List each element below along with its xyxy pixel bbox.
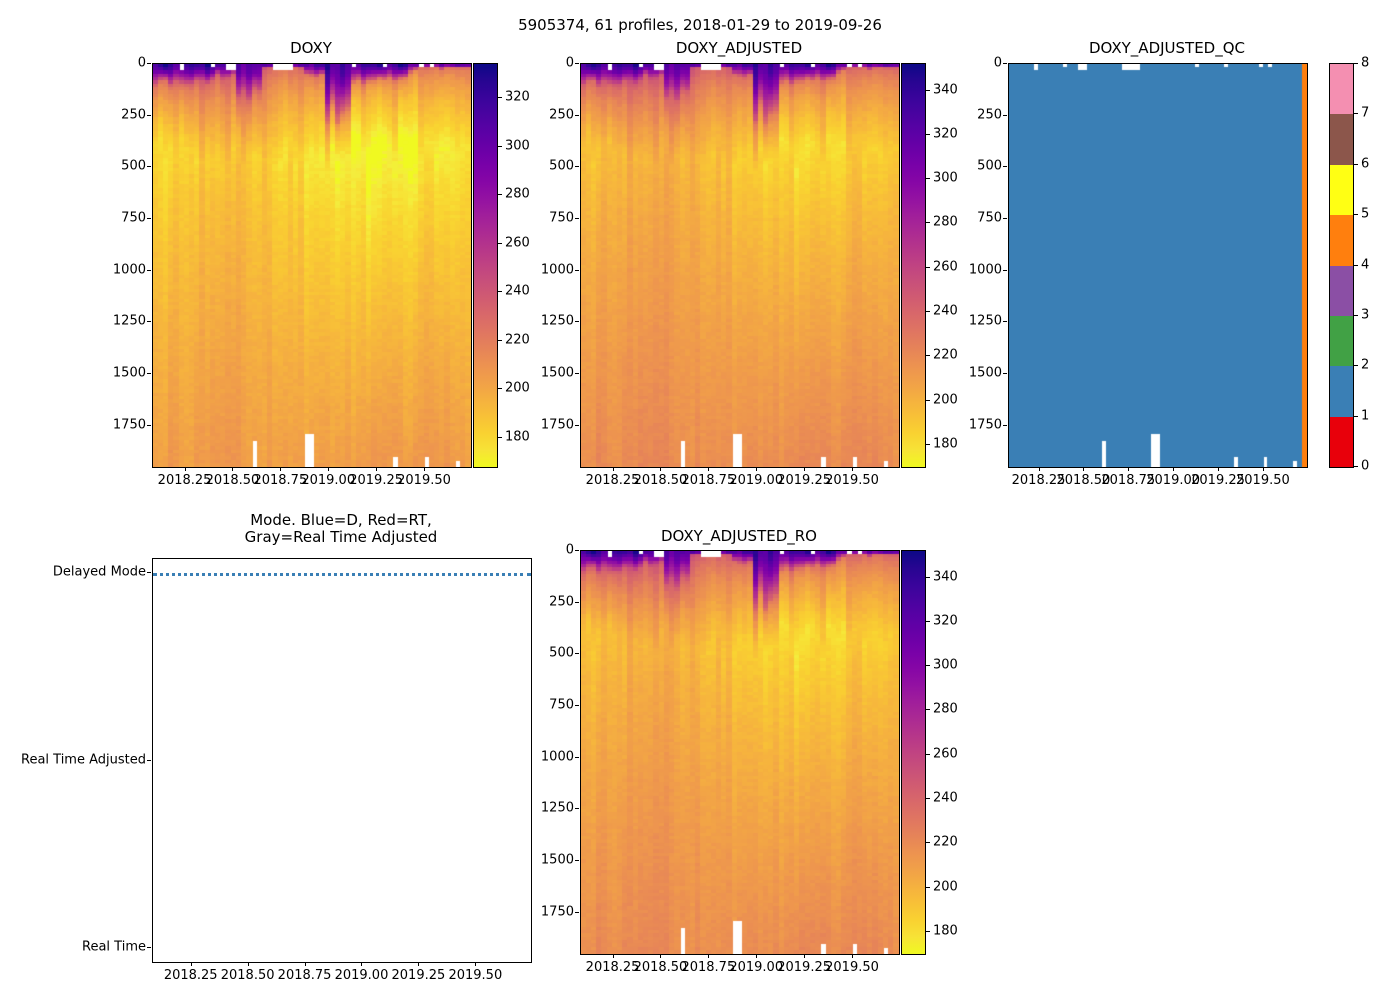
ytick-mark-doxy-5 <box>147 321 151 322</box>
cbar-tick-label-doxy-4: 260 <box>505 235 530 250</box>
colorbar-qc-categories <box>1330 64 1353 467</box>
ytick-mark-adj-5 <box>575 321 579 322</box>
ytick-label-adj-6: 1500 <box>522 366 574 381</box>
ytick-mark-qc-2 <box>1003 166 1007 167</box>
cbar-tick-mark-doxy-2 <box>498 340 502 341</box>
ytick-label-qc-0: 0 <box>950 56 1002 71</box>
qc-colorbar-band-1 <box>1330 366 1353 416</box>
cbar-tick-mark-adj-5 <box>926 222 930 223</box>
cbar-tick-mark-ro-6 <box>926 665 930 666</box>
cbar-tick-label-doxy-6: 300 <box>505 138 530 153</box>
ytick-label-mode-0: Delayed Mode <box>2 565 146 580</box>
ytick-mark-doxy-6 <box>147 373 151 374</box>
ytick-mark-doxy-1 <box>147 115 151 116</box>
ytick-mark-ro-1 <box>575 602 579 603</box>
xtick-mark-mode-5 <box>475 962 476 966</box>
cbar-tick-label-adj-5: 280 <box>933 215 958 230</box>
panel-doxy-adjusted-qc-title: DOXY_ADJUSTED_QC <box>1008 40 1326 57</box>
axes-doxy <box>152 63 472 468</box>
xtick-mark-doxy-2 <box>280 467 281 471</box>
ytick-mark-mode-0 <box>147 572 151 573</box>
axes-doxy-adjusted <box>580 63 900 468</box>
ytick-mark-qc-1 <box>1003 115 1007 116</box>
ytick-mark-adj-4 <box>575 270 579 271</box>
ytick-label-doxy-0: 0 <box>94 56 146 71</box>
ytick-label-ro-6: 1500 <box>522 853 574 868</box>
xtick-mark-mode-0 <box>191 962 192 966</box>
ytick-label-qc-7: 1750 <box>950 417 1002 432</box>
ytick-label-doxy-1: 250 <box>94 107 146 122</box>
cbar-tick-label-ro-2: 220 <box>933 835 958 850</box>
cbar-tick-label-adj-0: 180 <box>933 436 958 451</box>
colorbar-doxy-adjusted-ro-gradient <box>902 551 925 954</box>
ytick-mark-qc-6 <box>1003 373 1007 374</box>
heatmap-doxy-adjusted-ro <box>581 551 899 954</box>
xtick-mark-mode-1 <box>248 962 249 966</box>
ytick-mark-adj-7 <box>575 425 579 426</box>
xtick-mark-qc-3 <box>1173 467 1174 471</box>
cbar-tick-mark-qc-7 <box>1354 113 1358 114</box>
xtick-mark-ro-0 <box>613 954 614 958</box>
cbar-tick-label-ro-4: 260 <box>933 746 958 761</box>
ytick-label-qc-6: 1500 <box>950 366 1002 381</box>
cbar-tick-mark-adj-8 <box>926 90 930 91</box>
ytick-mark-qc-5 <box>1003 321 1007 322</box>
cbar-tick-label-adj-7: 320 <box>933 126 958 141</box>
ytick-label-ro-0: 0 <box>522 543 574 558</box>
ytick-mark-adj-0 <box>575 63 579 64</box>
ytick-mark-doxy-2 <box>147 166 151 167</box>
cbar-tick-mark-qc-0 <box>1354 466 1358 467</box>
xtick-mark-qc-4 <box>1218 467 1219 471</box>
cbar-tick-label-qc-2: 2 <box>1361 358 1369 373</box>
xtick-mark-mode-2 <box>305 962 306 966</box>
ytick-label-adj-0: 0 <box>522 56 574 71</box>
ytick-mark-ro-6 <box>575 860 579 861</box>
qc-colorbar-band-2 <box>1330 316 1353 366</box>
cbar-tick-mark-ro-7 <box>926 621 930 622</box>
axes-doxy-adjusted-ro <box>580 550 900 955</box>
colorbar-doxy-gradient <box>474 64 497 467</box>
xtick-mark-ro-3 <box>756 954 757 958</box>
colorbar-doxy <box>473 63 498 468</box>
axes-doxy-adjusted-qc <box>1008 63 1308 468</box>
xtick-mark-adj-2 <box>708 467 709 471</box>
xtick-label-adj-5: 2019.50 <box>807 473 897 488</box>
ytick-label-adj-4: 1000 <box>522 262 574 277</box>
cbar-tick-label-ro-8: 340 <box>933 569 958 584</box>
ytick-label-ro-2: 500 <box>522 646 574 661</box>
cbar-tick-label-adj-4: 260 <box>933 259 958 274</box>
cbar-tick-mark-doxy-3 <box>498 291 502 292</box>
cbar-tick-label-qc-8: 8 <box>1361 56 1369 71</box>
ytick-label-doxy-2: 500 <box>94 159 146 174</box>
cbar-tick-label-ro-0: 180 <box>933 923 958 938</box>
qc-colorbar-band-4 <box>1330 215 1353 265</box>
colorbar-doxy-adjusted-ro <box>901 550 926 955</box>
cbar-tick-mark-qc-1 <box>1354 416 1358 417</box>
xtick-label-doxy-5: 2019.50 <box>379 473 469 488</box>
ytick-label-ro-4: 1000 <box>522 749 574 764</box>
cbar-tick-label-qc-0: 0 <box>1361 459 1369 474</box>
cbar-tick-mark-ro-8 <box>926 577 930 578</box>
ytick-label-doxy-6: 1500 <box>94 366 146 381</box>
cbar-tick-label-adj-1: 200 <box>933 392 958 407</box>
ytick-mark-mode-1 <box>147 760 151 761</box>
xtick-mark-qc-0 <box>1039 467 1040 471</box>
ytick-mark-ro-2 <box>575 653 579 654</box>
cbar-tick-label-adj-2: 220 <box>933 348 958 363</box>
cbar-tick-label-doxy-2: 220 <box>505 332 530 347</box>
ytick-label-adj-2: 500 <box>522 159 574 174</box>
cbar-tick-label-doxy-0: 180 <box>505 429 530 444</box>
cbar-tick-label-doxy-7: 320 <box>505 89 530 104</box>
xtick-label-ro-5: 2019.50 <box>807 960 897 975</box>
cbar-tick-label-adj-6: 300 <box>933 171 958 186</box>
cbar-tick-mark-adj-4 <box>926 267 930 268</box>
xtick-mark-adj-4 <box>804 467 805 471</box>
ytick-mark-doxy-3 <box>147 218 151 219</box>
xtick-mark-mode-3 <box>361 962 362 966</box>
cbar-tick-mark-doxy-6 <box>498 146 502 147</box>
cbar-tick-label-qc-5: 5 <box>1361 207 1369 222</box>
ytick-label-doxy-4: 1000 <box>94 262 146 277</box>
xtick-mark-ro-1 <box>660 954 661 958</box>
xtick-mark-doxy-3 <box>328 467 329 471</box>
xtick-mark-qc-5 <box>1263 467 1264 471</box>
qc-colorbar-band-5 <box>1330 165 1353 215</box>
cbar-tick-mark-doxy-5 <box>498 194 502 195</box>
ytick-label-adj-1: 250 <box>522 107 574 122</box>
ytick-label-doxy-7: 1750 <box>94 417 146 432</box>
cbar-tick-mark-adj-1 <box>926 400 930 401</box>
xtick-mark-ro-4 <box>804 954 805 958</box>
ytick-mark-mode-2 <box>147 947 151 948</box>
mode-delayed-series-line <box>153 573 531 576</box>
ytick-label-mode-1: Real Time Adjusted <box>2 752 146 767</box>
ytick-mark-doxy-7 <box>147 425 151 426</box>
cbar-tick-mark-ro-2 <box>926 842 930 843</box>
ytick-mark-ro-3 <box>575 705 579 706</box>
cbar-tick-label-doxy-5: 280 <box>505 187 530 202</box>
heatmap-doxy-adjusted-qc <box>1009 64 1307 467</box>
ytick-mark-adj-6 <box>575 373 579 374</box>
cbar-tick-mark-ro-3 <box>926 798 930 799</box>
cbar-tick-mark-adj-3 <box>926 311 930 312</box>
cbar-tick-label-adj-8: 340 <box>933 82 958 97</box>
xtick-mark-doxy-4 <box>376 467 377 471</box>
ytick-label-ro-7: 1750 <box>522 904 574 919</box>
ytick-mark-qc-4 <box>1003 270 1007 271</box>
xtick-mark-adj-5 <box>852 467 853 471</box>
xtick-label-mode-5: 2019.50 <box>430 968 520 983</box>
figure-title: 5905374, 61 profiles, 2018-01-29 to 2019… <box>0 16 1400 34</box>
qc-colorbar-band-0 <box>1330 417 1353 467</box>
ytick-mark-doxy-4 <box>147 270 151 271</box>
xtick-mark-doxy-0 <box>185 467 186 471</box>
cbar-tick-label-qc-4: 4 <box>1361 257 1369 272</box>
cbar-tick-mark-doxy-0 <box>498 437 502 438</box>
xtick-mark-ro-2 <box>708 954 709 958</box>
cbar-tick-mark-doxy-7 <box>498 97 502 98</box>
ytick-label-adj-5: 1250 <box>522 314 574 329</box>
cbar-tick-label-ro-1: 200 <box>933 879 958 894</box>
cbar-tick-mark-adj-6 <box>926 178 930 179</box>
xtick-mark-qc-2 <box>1128 467 1129 471</box>
colorbar-doxy-adjusted <box>901 63 926 468</box>
qc-colorbar-band-3 <box>1330 266 1353 316</box>
cbar-tick-label-ro-3: 240 <box>933 791 958 806</box>
ytick-label-doxy-5: 1250 <box>94 314 146 329</box>
ytick-mark-ro-0 <box>575 550 579 551</box>
xtick-label-qc-5: 2019.50 <box>1218 473 1308 488</box>
axes-mode <box>152 558 532 963</box>
cbar-tick-mark-ro-0 <box>926 931 930 932</box>
panel-mode-title: Mode. Blue=D, Red=RT, Gray=Real Time Adj… <box>152 512 530 547</box>
colorbar-doxy-adjusted-gradient <box>902 64 925 467</box>
cbar-tick-label-qc-1: 1 <box>1361 408 1369 423</box>
cbar-tick-mark-doxy-4 <box>498 243 502 244</box>
ytick-mark-qc-3 <box>1003 218 1007 219</box>
cbar-tick-mark-qc-3 <box>1354 315 1358 316</box>
cbar-tick-mark-qc-6 <box>1354 164 1358 165</box>
cbar-tick-mark-qc-2 <box>1354 365 1358 366</box>
ytick-mark-adj-1 <box>575 115 579 116</box>
ytick-label-ro-1: 250 <box>522 594 574 609</box>
cbar-tick-label-qc-7: 7 <box>1361 106 1369 121</box>
xtick-mark-qc-1 <box>1083 467 1084 471</box>
cbar-tick-label-doxy-3: 240 <box>505 284 530 299</box>
ytick-mark-doxy-0 <box>147 63 151 64</box>
ytick-mark-adj-2 <box>575 166 579 167</box>
ytick-mark-ro-4 <box>575 757 579 758</box>
heatmap-doxy-adjusted <box>581 64 899 467</box>
ytick-mark-adj-3 <box>575 218 579 219</box>
ytick-mark-ro-5 <box>575 808 579 809</box>
ytick-label-ro-3: 750 <box>522 698 574 713</box>
xtick-mark-mode-4 <box>418 962 419 966</box>
cbar-tick-label-doxy-1: 200 <box>505 381 530 396</box>
panel-doxy-title: DOXY <box>152 40 470 57</box>
heatmap-doxy <box>153 64 471 467</box>
ytick-label-adj-3: 750 <box>522 211 574 226</box>
ytick-label-qc-1: 250 <box>950 107 1002 122</box>
panel-doxy-adjusted-ro-title: DOXY_ADJUSTED_RO <box>580 528 898 545</box>
cbar-tick-label-adj-3: 240 <box>933 304 958 319</box>
cbar-tick-mark-ro-5 <box>926 709 930 710</box>
xtick-mark-doxy-5 <box>424 467 425 471</box>
xtick-mark-ro-5 <box>852 954 853 958</box>
ytick-label-doxy-3: 750 <box>94 211 146 226</box>
ytick-mark-ro-7 <box>575 912 579 913</box>
cbar-tick-label-ro-6: 300 <box>933 658 958 673</box>
cbar-tick-mark-adj-0 <box>926 444 930 445</box>
cbar-tick-mark-adj-2 <box>926 355 930 356</box>
xtick-mark-adj-0 <box>613 467 614 471</box>
ytick-mark-qc-7 <box>1003 425 1007 426</box>
cbar-tick-label-qc-6: 6 <box>1361 156 1369 171</box>
xtick-mark-adj-3 <box>756 467 757 471</box>
cbar-tick-mark-qc-8 <box>1354 63 1358 64</box>
cbar-tick-label-qc-3: 3 <box>1361 307 1369 322</box>
qc-colorbar-band-7 <box>1330 64 1353 114</box>
cbar-tick-mark-qc-4 <box>1354 265 1358 266</box>
cbar-tick-mark-qc-5 <box>1354 214 1358 215</box>
panel-doxy-adjusted-title: DOXY_ADJUSTED <box>580 40 898 57</box>
cbar-tick-mark-adj-7 <box>926 134 930 135</box>
cbar-tick-mark-doxy-1 <box>498 388 502 389</box>
ytick-label-mode-2: Real Time <box>2 940 146 955</box>
cbar-tick-label-ro-7: 320 <box>933 613 958 628</box>
xtick-mark-adj-1 <box>660 467 661 471</box>
xtick-mark-doxy-1 <box>232 467 233 471</box>
qc-colorbar-band-6 <box>1330 114 1353 164</box>
cbar-tick-label-ro-5: 280 <box>933 702 958 717</box>
cbar-tick-mark-ro-1 <box>926 887 930 888</box>
ytick-mark-qc-0 <box>1003 63 1007 64</box>
cbar-tick-mark-ro-4 <box>926 754 930 755</box>
ytick-label-ro-5: 1250 <box>522 801 574 816</box>
colorbar-doxy-adjusted-qc <box>1329 63 1354 468</box>
